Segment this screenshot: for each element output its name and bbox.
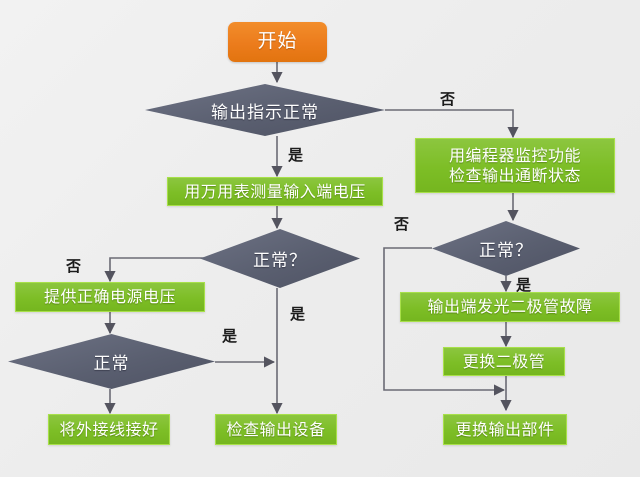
- edge-label-no-normal-right: 否: [394, 213, 410, 234]
- node-connect-external-wiring-label: 将外接线接好: [59, 421, 158, 439]
- node-replace-output-part-label: 更换输出部件: [455, 421, 554, 439]
- edge-normalmid-no-to-supply: [110, 258, 208, 281]
- flowchart-canvas: 开始 输出指示正常 用编程器监控功能 检查输出通断状态 用万用表测量输入端电压 …: [0, 0, 640, 477]
- node-monitor-output-state-label: 用编程器监控功能 检查输出通断状态: [449, 146, 581, 186]
- edge-outind-no-to-monitor: [385, 110, 513, 137]
- node-supply-correct-voltage-label: 提供正确电源电压: [44, 288, 176, 306]
- node-start[interactable]: 开始: [228, 22, 327, 62]
- node-measure-input-voltage[interactable]: 用万用表测量输入端电压: [167, 177, 383, 206]
- edge-label-yes-normal-lowerleft: 是: [222, 325, 238, 346]
- node-supply-correct-voltage[interactable]: 提供正确电源电压: [15, 282, 205, 312]
- edge-label-yes-normal-right: 是: [516, 274, 532, 295]
- edge-label-yes-output-indication: 是: [288, 144, 304, 165]
- node-decision-output-indication[interactable]: 输出指示正常: [145, 84, 385, 136]
- node-decision-output-indication-label: 输出指示正常: [145, 84, 385, 136]
- edge-label-no-normal-middle: 否: [66, 255, 82, 276]
- node-start-label: 开始: [257, 31, 297, 52]
- node-connect-external-wiring[interactable]: 将外接线接好: [48, 414, 170, 445]
- node-monitor-output-state[interactable]: 用编程器监控功能 检查输出通断状态: [415, 138, 615, 193]
- node-replace-diode[interactable]: 更换二极管: [443, 347, 565, 376]
- edge-label-yes-normal-middle: 是: [290, 303, 306, 324]
- node-decision-normal-lowerleft[interactable]: 正常: [8, 334, 215, 389]
- node-led-fault[interactable]: 输出端发光二极管故障: [400, 292, 620, 322]
- node-decision-normal-middle-label: 正常？: [200, 229, 360, 288]
- node-decision-normal-middle[interactable]: 正常？: [200, 229, 360, 288]
- edge-label-no-output-indication: 否: [440, 88, 456, 109]
- node-decision-normal-right-label: 正常？: [432, 221, 580, 276]
- node-check-output-device[interactable]: 检查输出设备: [215, 414, 337, 445]
- node-check-output-device-label: 检查输出设备: [226, 421, 325, 439]
- node-decision-normal-lowerleft-label: 正常: [8, 334, 215, 389]
- node-replace-diode-label: 更换二极管: [463, 353, 546, 371]
- node-led-fault-label: 输出端发光二极管故障: [427, 298, 592, 316]
- node-replace-output-part[interactable]: 更换输出部件: [443, 414, 567, 445]
- node-measure-input-voltage-label: 用万用表测量输入端电压: [184, 183, 366, 201]
- node-decision-normal-right[interactable]: 正常？: [432, 221, 580, 276]
